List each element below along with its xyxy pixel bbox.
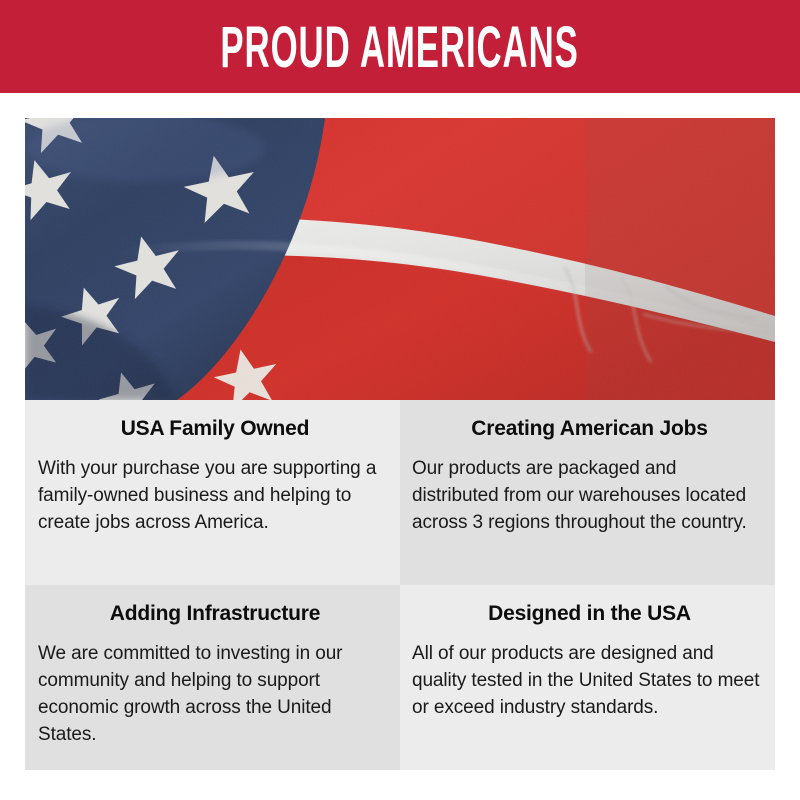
feature-card-creating-american-jobs: Creating American Jobs Our products are …: [400, 400, 775, 585]
feature-body: We are committed to investing in our com…: [38, 627, 392, 748]
feature-title: Creating American Jobs: [412, 400, 767, 442]
feature-title: Adding Infrastructure: [38, 585, 392, 627]
features-grid: USA Family Owned With your purchase you …: [25, 400, 775, 775]
feature-title: USA Family Owned: [38, 400, 392, 442]
page-title: PROUD AMERICANS: [221, 19, 579, 77]
feature-body: All of our products are designed and qua…: [412, 627, 767, 721]
feature-card-designed-in-the-usa: Designed in the USA All of our products …: [400, 585, 775, 770]
feature-title: Designed in the USA: [412, 585, 767, 627]
feature-body: Our products are packaged and distribute…: [412, 442, 767, 536]
header-banner: PROUD AMERICANS: [0, 0, 800, 93]
feature-card-usa-family-owned: USA Family Owned With your purchase you …: [25, 400, 400, 585]
feature-card-adding-infrastructure: Adding Infrastructure We are committed t…: [25, 585, 400, 770]
american-flag-graphic: [25, 118, 775, 400]
proud-americans-infographic: PROUD AMERICANS: [0, 0, 800, 800]
feature-body: With your purchase you are supporting a …: [38, 442, 392, 536]
american-flag-image: [25, 118, 775, 400]
